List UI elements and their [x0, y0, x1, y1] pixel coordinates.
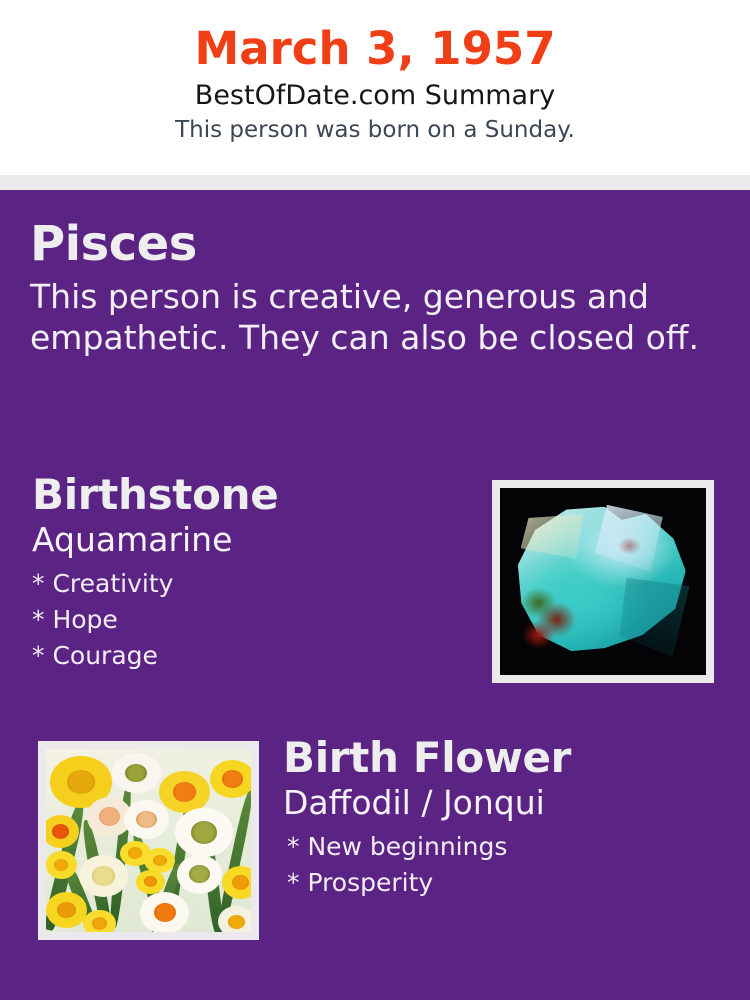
list-item: * New beginnings	[287, 829, 733, 865]
birth-weekday-text: This person was born on a Sunday.	[0, 116, 750, 145]
flower-cup	[57, 902, 76, 919]
flower-cup	[54, 859, 68, 872]
gem-inclusion-matrix	[519, 585, 585, 649]
birth-flower-image	[46, 749, 251, 932]
birth-flower-image-frame	[38, 741, 259, 940]
birth-flower-title: Birth Flower	[283, 735, 733, 781]
flower-cup	[99, 807, 120, 826]
zodiac-sign-title: Pisces	[30, 218, 720, 271]
birthstone-image	[500, 488, 706, 675]
flower-bloom	[210, 760, 251, 798]
birthstone-image-frame	[492, 480, 714, 683]
zodiac-section: Pisces This person is creative, generous…	[30, 218, 720, 358]
flower-bloom	[124, 800, 169, 838]
flower-bloom	[112, 753, 161, 793]
list-item: * Courage	[32, 638, 472, 674]
flower-bloom	[46, 815, 79, 848]
flower-cup	[125, 764, 148, 783]
flower-cup	[191, 821, 217, 844]
flower-cup	[92, 866, 115, 885]
flower-bloom	[136, 870, 165, 894]
flower-cup	[52, 824, 69, 839]
flower-cup	[67, 770, 95, 794]
flower-cup	[128, 847, 142, 859]
birthday-summary-card: March 3, 1957 BestOfDate.com Summary Thi…	[0, 0, 750, 1000]
flower-cup	[153, 855, 167, 867]
details-panel: Pisces This person is creative, generous…	[0, 190, 750, 1000]
list-item: * Hope	[32, 602, 472, 638]
flower-bloom	[79, 855, 128, 897]
birthstone-name: Aquamarine	[32, 520, 472, 560]
birth-flower-section: Birth Flower Daffodil / Jonqui * New beg…	[283, 735, 733, 901]
zodiac-description: This person is creative, generous and em…	[30, 276, 700, 359]
flower-bloom	[46, 851, 77, 878]
flower-bloom	[175, 808, 232, 857]
page-title-date: March 3, 1957	[0, 22, 750, 75]
flower-cup	[136, 811, 157, 829]
flower-cup	[189, 865, 210, 883]
birth-flower-name: Daffodil / Jonqui	[283, 783, 733, 823]
flower-cup	[228, 915, 245, 929]
flower-cup	[173, 782, 197, 801]
flower-bloom	[140, 892, 189, 932]
flower-bloom	[159, 771, 210, 813]
birthstone-section: Birthstone Aquamarine * Creativity * Hop…	[32, 472, 472, 674]
list-item: * Creativity	[32, 566, 472, 602]
header: March 3, 1957 BestOfDate.com Summary Thi…	[0, 0, 750, 175]
flower-bloom	[46, 892, 87, 929]
list-item: * Prosperity	[287, 865, 733, 901]
site-summary-label: BestOfDate.com Summary	[0, 79, 750, 113]
flower-bloom	[218, 906, 251, 932]
flower-cup	[222, 770, 243, 788]
flower-bloom	[177, 855, 222, 893]
flower-bloom	[222, 866, 251, 899]
flower-cup	[92, 917, 107, 930]
birthstone-title: Birthstone	[32, 472, 472, 518]
flower-cup	[144, 876, 157, 887]
birthstone-trait-list: * Creativity * Hope * Courage	[32, 566, 472, 674]
gem-inclusion-upper	[607, 525, 652, 566]
flower-cup	[232, 875, 249, 890]
birth-flower-trait-list: * New beginnings * Prosperity	[283, 829, 733, 901]
header-divider	[0, 175, 750, 190]
flower-bloom	[83, 910, 116, 932]
flower-cup	[154, 903, 177, 922]
